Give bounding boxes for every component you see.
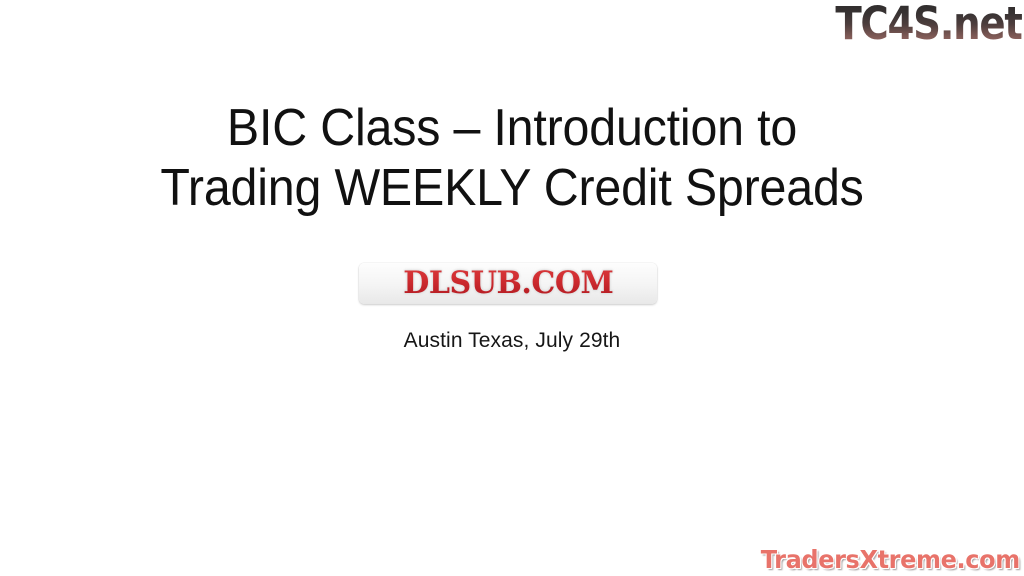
- dlsub-logo-text: DLSUB.COM: [403, 268, 613, 299]
- slide-subtitle: Austin Texas, July 29th: [0, 328, 1024, 354]
- tradersxtreme-watermark: TradersXtreme.com: [750, 547, 1020, 572]
- slide-subtitle-text: Austin Texas, July 29th: [404, 329, 621, 352]
- tradersxtreme-watermark-text: TradersXtreme.com: [761, 547, 1020, 572]
- slide-title: BIC Class – Introduction to Trading WEEK…: [0, 98, 1024, 218]
- dlsub-logo-badge: DLSUB.COM: [359, 263, 657, 304]
- slide-title-line-1: BIC Class – Introduction to: [36, 98, 988, 158]
- slide-title-line-2: Trading WEEKLY Credit Spreads: [36, 158, 988, 218]
- tc4s-watermark-text: TC4S.net: [836, 1, 1022, 46]
- presentation-slide: TC4S.net BIC Class – Introduction to Tra…: [0, 0, 1024, 576]
- tc4s-watermark: TC4S.net: [805, 1, 1022, 46]
